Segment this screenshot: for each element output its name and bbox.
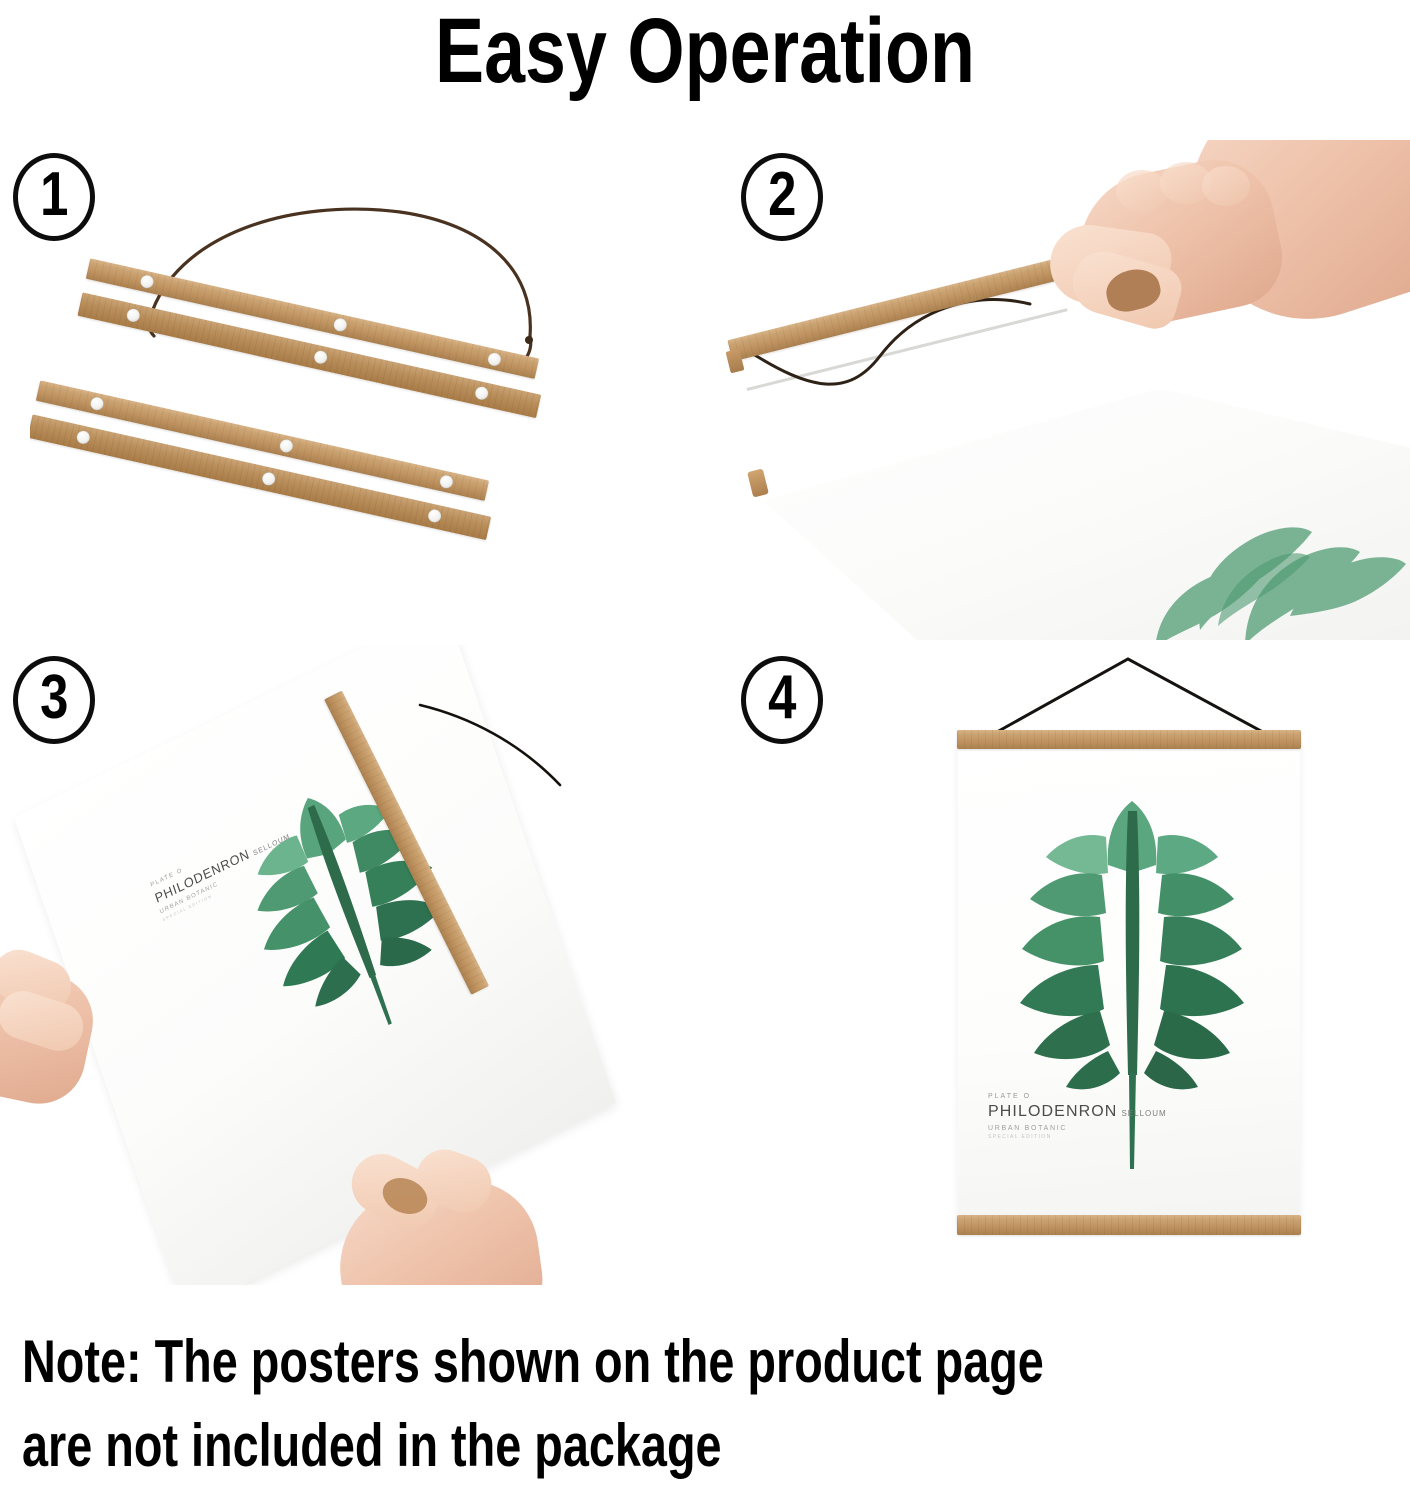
caption-brand: URBAN BOTANIC — [988, 1125, 1148, 1132]
note-text: Note: The posters shown on the product p… — [22, 1320, 1098, 1488]
caption-edition: SPECIAL EDITION — [988, 1134, 1148, 1140]
poster-caption: PLATE O PHILODENRONSELLOUM URBAN BOTANIC… — [988, 1093, 1148, 1140]
note-line-1: Note: The posters shown on the product p… — [22, 1320, 1098, 1404]
hand — [1020, 140, 1410, 410]
magnet-dot — [76, 430, 92, 446]
magnet-dot — [89, 396, 105, 412]
page-title: Easy Operation — [141, 0, 1269, 106]
hanging-cord — [30, 140, 680, 640]
magnet-dot — [139, 274, 155, 290]
magnet-dot — [474, 386, 490, 402]
note-line-2: are not included in the package — [22, 1404, 1098, 1488]
caption-species: SELLOUM — [1121, 1109, 1166, 1118]
step-4-illustration: PLATE O PHILODENRONSELLOUM URBAN BOTANIC… — [720, 645, 1410, 1285]
magnet-dot — [279, 438, 295, 454]
caption-name: PHILODENRONSELLOUM — [988, 1104, 1148, 1120]
step-2-illustration — [720, 140, 1410, 640]
instruction-sheet: Easy Operation 1 — [0, 0, 1410, 1497]
caption-plate: PLATE O — [988, 1093, 1148, 1100]
step-1-illustration — [30, 140, 680, 640]
magnet-dot — [439, 474, 455, 490]
wooden-frame-slat-end — [747, 468, 769, 497]
magnet-dot — [333, 317, 349, 333]
wooden-frame-slat — [957, 730, 1301, 749]
step-3-illustration: PLATE O PHILODENRONSELLOUM URBAN BOTANIC… — [0, 645, 700, 1285]
hand — [320, 1145, 580, 1285]
wooden-frame-slat — [957, 1215, 1301, 1235]
hand — [0, 945, 130, 1115]
magnet-dot — [487, 352, 503, 368]
leaf-artwork — [1050, 420, 1410, 640]
magnet-dot — [126, 308, 142, 324]
magnet-dot — [261, 471, 277, 487]
magnet-dot — [427, 508, 443, 524]
magnet-dot — [313, 350, 329, 366]
